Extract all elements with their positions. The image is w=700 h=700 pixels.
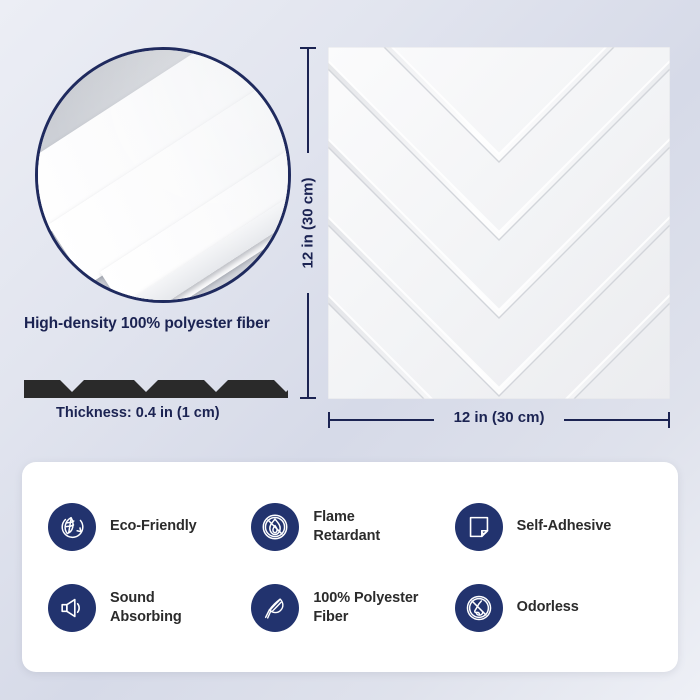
peeling-sheet-icon <box>455 503 503 551</box>
height-dimension-line: 12 in (30 cm) <box>296 47 320 399</box>
feature-eco-friendly: Eco-Friendly <box>48 486 245 567</box>
thickness-bar-graphic <box>24 378 288 398</box>
feature-flame-retardant: FlameRetardant <box>251 486 448 567</box>
closeup-photo-circle <box>35 47 291 303</box>
speaker-sound-icon <box>48 584 96 632</box>
fiber-bundle-icon <box>251 584 299 632</box>
feature-label: Eco-Friendly <box>110 517 197 535</box>
leaf-recycle-icon <box>48 503 96 551</box>
closeup-caption: High-density 100% polyester fiber <box>24 315 314 333</box>
dimension-stem-upper <box>307 48 309 153</box>
width-dimension-label: 12 in (30 cm) <box>454 409 545 426</box>
dimension-stem-lower <box>307 293 309 398</box>
dimension-cap-right <box>668 412 670 428</box>
panel-product-photo <box>328 47 670 399</box>
no-odor-nose-icon <box>455 584 503 632</box>
dimension-rule-right <box>564 419 669 421</box>
feature-label: Self-Adhesive <box>517 517 612 535</box>
width-dimension-line: 12 in (30 cm) <box>328 408 670 432</box>
feature-polyester-fiber: 100% PolyesterFiber <box>251 567 448 648</box>
feature-label: FlameRetardant <box>313 508 380 544</box>
dimension-cap-bottom <box>300 397 316 399</box>
feature-label: SoundAbsorbing <box>110 589 182 625</box>
feature-self-adhesive: Self-Adhesive <box>455 486 652 567</box>
thickness-caption: Thickness: 0.4 in (1 cm) <box>56 405 220 421</box>
height-dimension-label: 12 in (30 cm) <box>300 178 317 269</box>
features-grid: Eco-Friendly FlameRetardant <box>48 486 652 648</box>
feature-sound-absorbing: SoundAbsorbing <box>48 567 245 648</box>
features-card: Eco-Friendly FlameRetardant <box>22 462 678 672</box>
product-infographic: High-density 100% polyester fiber Thickn… <box>0 0 700 700</box>
no-flame-icon <box>251 503 299 551</box>
feature-odorless: Odorless <box>455 567 652 648</box>
feature-label: 100% PolyesterFiber <box>313 589 418 625</box>
feature-label: Odorless <box>517 598 579 616</box>
dimension-rule-left <box>329 419 434 421</box>
